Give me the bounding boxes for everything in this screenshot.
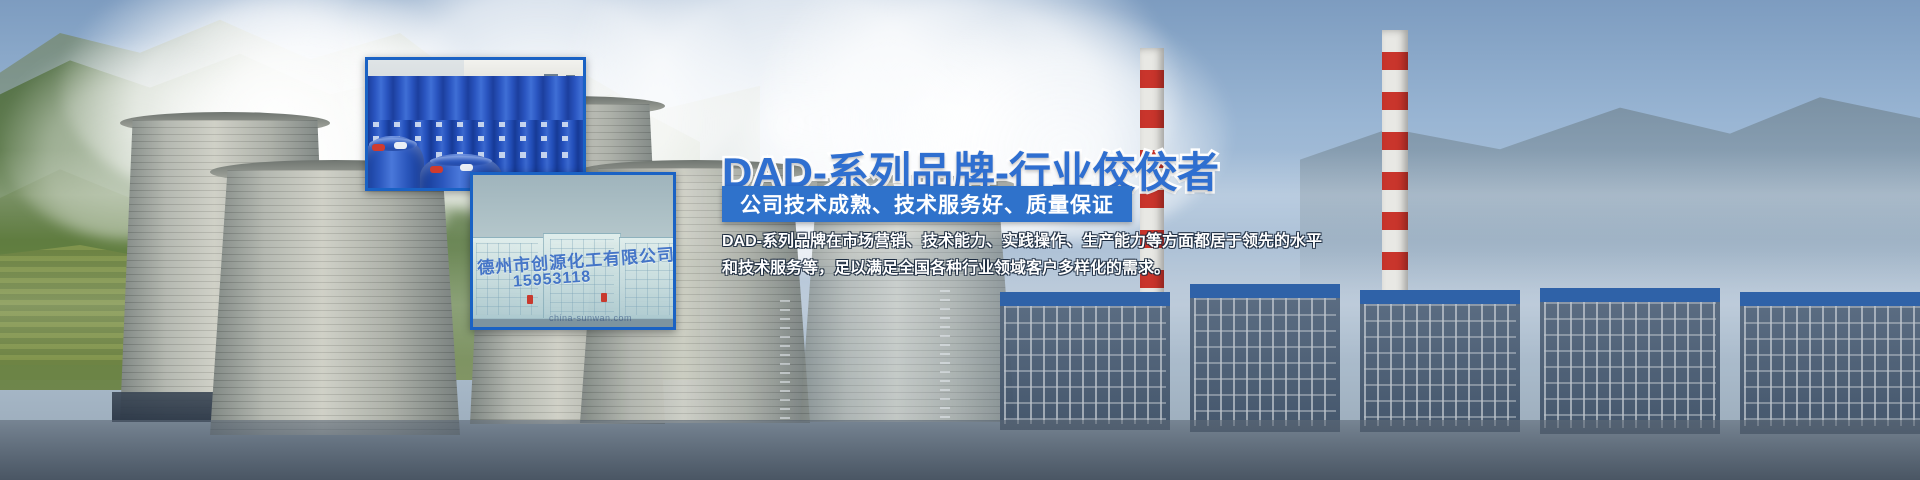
plant-roof-4 — [1540, 288, 1720, 302]
photo1-drum-cap-white-1 — [394, 142, 407, 149]
banner-subtitle-text: 公司技术成熟、技术服务好、质量保证 — [740, 189, 1114, 219]
plant-truss-5 — [1744, 306, 1920, 426]
photo1-drum-cap-white-2 — [460, 164, 473, 171]
chimney-right — [1382, 30, 1408, 300]
photo2-watermark-url: china-sunwan.com — [549, 313, 632, 323]
plant-truss-3 — [1364, 304, 1516, 426]
cooling-tower-2 — [210, 170, 460, 435]
photo1-drum-cap-red-1 — [372, 144, 385, 151]
hero-banner: 德州市创源化工有限公司 15953118 china-sunwan.com DA… — [0, 0, 1920, 480]
plant-roof-1 — [1000, 292, 1170, 306]
banner-paragraph-line-1: DAD-系列品牌在市场营销、技术能力、实践操作、生产能力等方面都居于领先的水平 — [722, 228, 1322, 255]
foreground-ground — [0, 420, 1920, 480]
banner-subtitle-bar: 公司技术成熟、技术服务好、质量保证 — [722, 186, 1132, 222]
plant-roof-3 — [1360, 290, 1520, 304]
photo1-drum-back-row — [368, 76, 583, 124]
photo2-wall — [473, 175, 673, 242]
plant-truss-1 — [1004, 306, 1166, 424]
product-photo-containers[interactable]: 德州市创源化工有限公司 15953118 china-sunwan.com — [470, 172, 676, 330]
transmission-pylon-1 — [780, 300, 790, 420]
photo2-container-1-tap — [527, 295, 533, 304]
plant-roof-5 — [1740, 292, 1920, 306]
plant-truss-4 — [1544, 302, 1716, 428]
plant-truss-2 — [1194, 298, 1336, 426]
transmission-pylon-2 — [940, 290, 950, 420]
banner-paragraph-line-2: 和技术服务等，足以满足全国各种行业领域客户多样化的需求。 — [722, 255, 1170, 282]
photo2-container-2-tap — [601, 293, 607, 302]
product-photo-drums[interactable] — [365, 57, 586, 191]
photo1-drum-cap-red-2 — [430, 166, 443, 173]
plant-roof-2 — [1190, 284, 1340, 298]
photo1-drum-caps-1 — [368, 122, 583, 127]
